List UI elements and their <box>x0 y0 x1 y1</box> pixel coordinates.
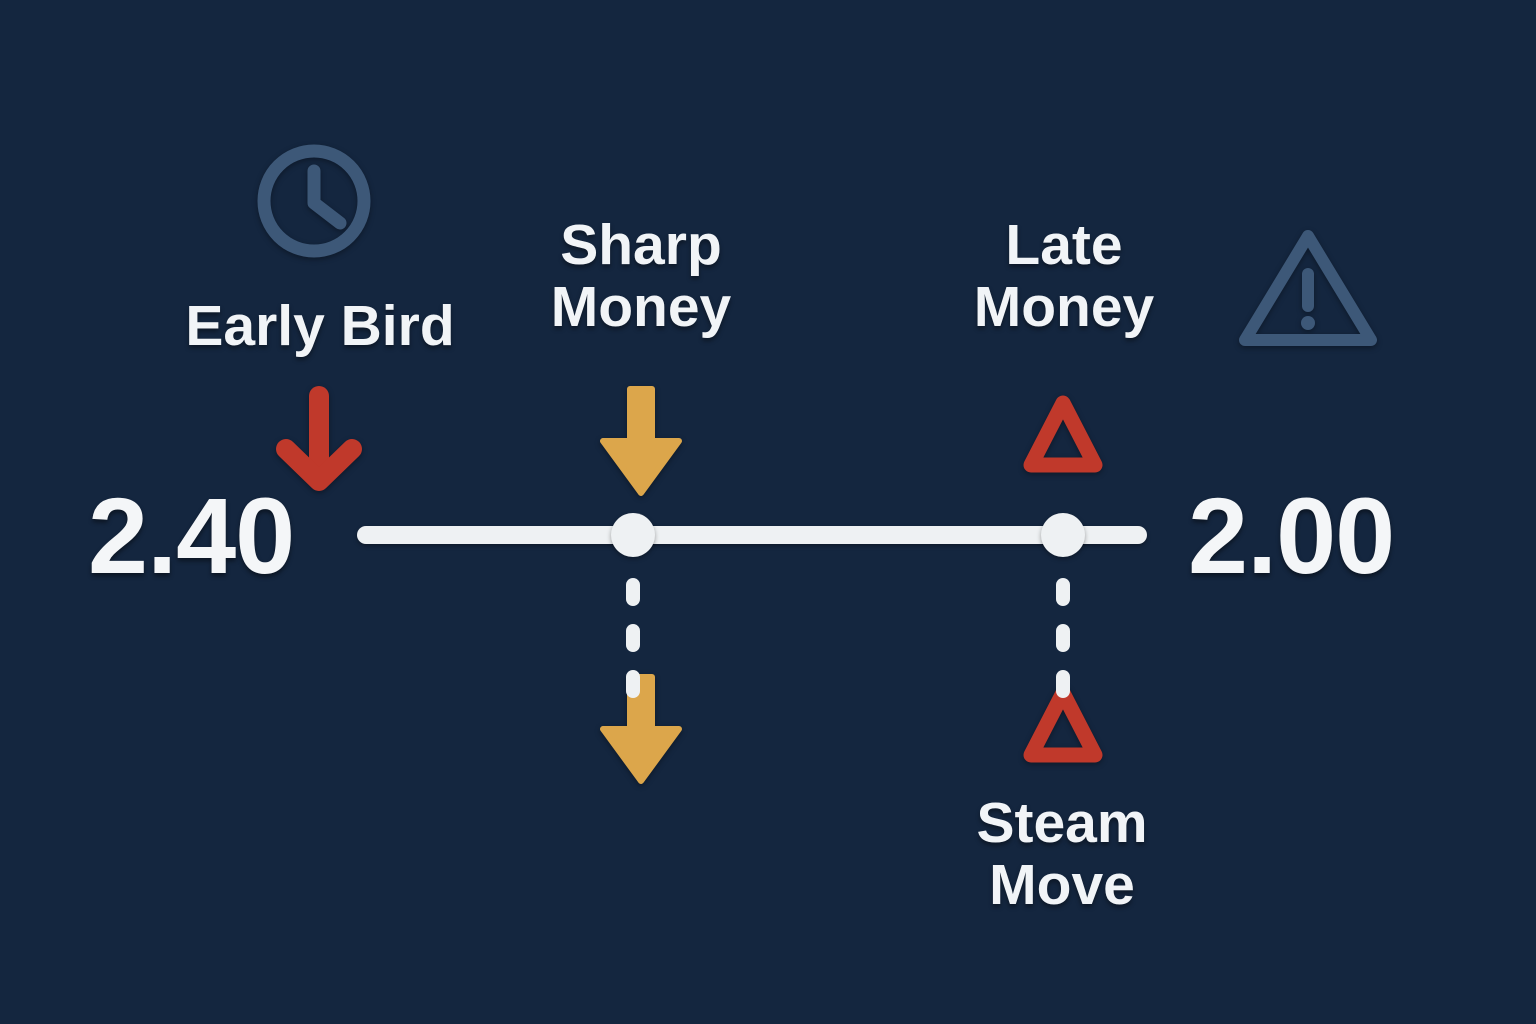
warning-triangle-icon <box>1235 222 1381 354</box>
down-arrow-gold-icon <box>599 673 683 785</box>
timeline-node-late-money[interactable] <box>1041 513 1085 557</box>
triangle-red-icon <box>1021 391 1105 477</box>
down-arrow-gold-icon <box>599 385 683 497</box>
dashed-connector-late-money <box>1056 578 1070 716</box>
annotation-steam-move: Steam Move <box>976 793 1147 916</box>
odds-timeline-axis <box>357 526 1147 544</box>
opening-odds-value: 2.40 <box>88 482 294 590</box>
clock-icon <box>252 139 376 263</box>
down-arrow-red-icon <box>274 386 364 496</box>
stage-label-late-money: Late Money <box>974 215 1155 338</box>
dashed-connector-sharp-money <box>626 578 640 716</box>
closing-odds-value: 2.00 <box>1188 482 1394 590</box>
stage-label-early-bird: Early Bird <box>185 296 454 358</box>
odds-movement-diagram: 2.40 2.00 Early Bird Sharp Money Late Mo… <box>0 0 1536 1024</box>
timeline-node-sharp-money[interactable] <box>611 513 655 557</box>
stage-label-sharp-money: Sharp Money <box>551 215 732 338</box>
